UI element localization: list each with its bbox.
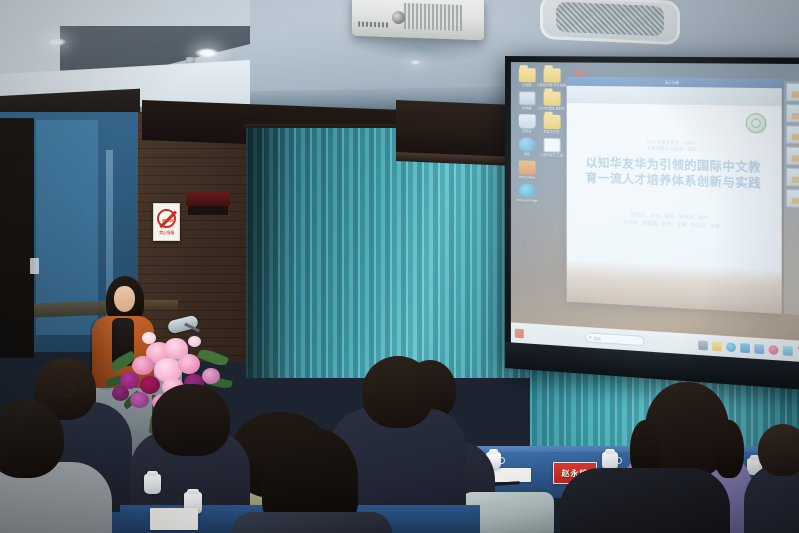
- audience-member-head: [362, 356, 434, 428]
- porcelain-teacup: [144, 474, 161, 494]
- projector-vent: [358, 21, 388, 27]
- no-smoking-icon: [157, 209, 176, 228]
- conference-room-photo: 禁止吸烟 此电脑 此电脑 回收站: [0, 0, 799, 533]
- air-conditioning-grille: [556, 2, 664, 37]
- projector-vent: [404, 3, 462, 31]
- wall-switch[interactable]: [30, 258, 39, 274]
- cigarette-icon: [162, 219, 174, 222]
- wood-trim: [138, 300, 178, 310]
- audience-member: [232, 512, 392, 533]
- curtain-shadow: [246, 128, 292, 378]
- projection-washout-overlay: [511, 62, 799, 363]
- document-sheet: [150, 508, 198, 530]
- no-smoking-sign: 禁止吸烟: [153, 203, 180, 241]
- recessed-downlight: [195, 48, 219, 58]
- wall-dark-pillar: [0, 118, 34, 358]
- audience-member-head: [758, 424, 799, 476]
- no-smoking-label: 禁止吸烟: [159, 230, 174, 236]
- presenter-face: [114, 286, 135, 312]
- projection-screen-surface: 此电脑 此电脑 回收站 网络 WPS Office: [511, 62, 799, 363]
- wall-poster-shadow: [188, 206, 228, 215]
- wall-poster: [186, 192, 230, 206]
- audience-member-hair: [152, 384, 230, 456]
- audience-member: [560, 468, 730, 533]
- recessed-downlight: [47, 38, 66, 46]
- projector-lens: [392, 11, 405, 24]
- audience-member-hair: [714, 420, 744, 478]
- eyeglasses: [60, 386, 74, 396]
- projection-screen: 此电脑 此电脑 回收站 网络 WPS Office: [505, 56, 799, 391]
